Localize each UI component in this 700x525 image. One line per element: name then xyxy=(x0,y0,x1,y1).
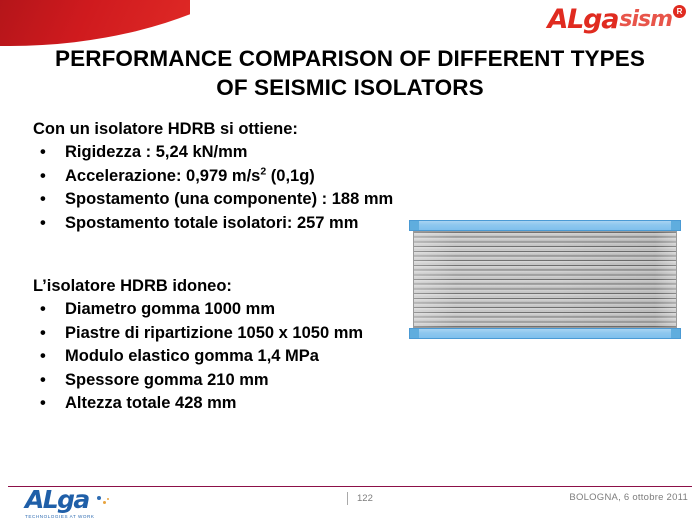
list-item-label: Rigidezza : 5,24 kN/mm xyxy=(65,143,247,161)
list-item: • Spessore gomma 210 mm xyxy=(33,369,503,393)
content-block-hdrb-results: Con un isolatore HDRB si ottiene: • Rigi… xyxy=(33,118,503,235)
bottom-plate-left-cap xyxy=(410,329,419,338)
block1-heading: Con un isolatore HDRB si ottiene: xyxy=(33,118,503,141)
bottom-plate-right-cap xyxy=(671,329,680,338)
list-item-label: Spessore gomma 210 mm xyxy=(65,371,269,389)
corner-accent-swoosh xyxy=(0,0,190,46)
page-number-group: 122 xyxy=(347,492,373,505)
list-item-label: Piastre di ripartizione 1050 x 1050 mm xyxy=(65,324,363,342)
isolator-diagram xyxy=(409,220,681,339)
list-item: • Modulo elastico gomma 1,4 MPa xyxy=(33,345,503,369)
alga-logo-tagline: TECHNOLOGIES AT WORK xyxy=(25,514,155,519)
isolator-bottom-plate xyxy=(409,328,681,339)
alga-logo-dots-icon xyxy=(93,487,111,505)
list-item: • Spostamento (una componente) : 188 mm xyxy=(33,188,503,212)
list-item-label: Modulo elastico gomma 1,4 MPa xyxy=(65,347,319,365)
bullet-dot-icon: • xyxy=(40,141,46,165)
bullet-dot-icon: • xyxy=(40,212,46,236)
page-number-separator xyxy=(347,492,348,505)
list-item: • Accelerazione: 0,979 m/s2 (0,1g) xyxy=(33,165,503,189)
top-plate-left-cap xyxy=(410,221,419,230)
registered-trademark-icon: R xyxy=(673,5,686,18)
algasism-logo-secondary-text: sism xyxy=(619,6,672,33)
bullet-dot-icon: • xyxy=(40,298,46,322)
algasism-brand-logo: ALga sism R xyxy=(547,6,686,38)
list-item-label-after: (0,1g) xyxy=(266,167,315,185)
bullet-dot-icon: • xyxy=(40,392,46,416)
alga-company-logo: ALga TECHNOLOGIES AT WORK xyxy=(25,487,155,521)
list-item-label-before: Accelerazione: 0,979 m/s xyxy=(65,167,260,185)
top-plate-right-cap xyxy=(671,221,680,230)
bullet-dot-icon: • xyxy=(40,322,46,346)
list-item: • Rigidezza : 5,24 kN/mm xyxy=(33,141,503,165)
list-item-label: Altezza totale 428 mm xyxy=(65,394,236,412)
isolator-rubber-steel-layer-stack xyxy=(413,231,677,328)
page-title-line-1: PERFORMANCE COMPARISON OF DIFFERENT TYPE… xyxy=(20,44,680,73)
isolator-top-plate xyxy=(409,220,681,231)
bullet-dot-icon: • xyxy=(40,165,46,189)
alga-logo-wordmark-row: ALga xyxy=(25,487,155,513)
list-item-label: Diametro gomma 1000 mm xyxy=(65,300,275,318)
list-item-label: Spostamento (una componente) : 188 mm xyxy=(65,190,393,208)
alga-logo-wordmark: ALga xyxy=(25,485,89,514)
corner-accent-shape xyxy=(0,0,190,46)
page-title-line-2: OF SEISMIC ISOLATORS xyxy=(20,73,680,102)
list-item: • Altezza totale 428 mm xyxy=(33,392,503,416)
list-item-label: Spostamento totale isolatori: 257 mm xyxy=(65,214,358,232)
page-number: 122 xyxy=(357,493,373,504)
bullet-dot-icon: • xyxy=(40,369,46,393)
event-location-date: BOLOGNA, 6 ottobre 2011 xyxy=(569,492,688,503)
bullet-dot-icon: • xyxy=(40,345,46,369)
page-title: PERFORMANCE COMPARISON OF DIFFERENT TYPE… xyxy=(20,44,680,102)
algasism-logo-primary-text: ALga xyxy=(547,6,618,33)
bullet-dot-icon: • xyxy=(40,188,46,212)
